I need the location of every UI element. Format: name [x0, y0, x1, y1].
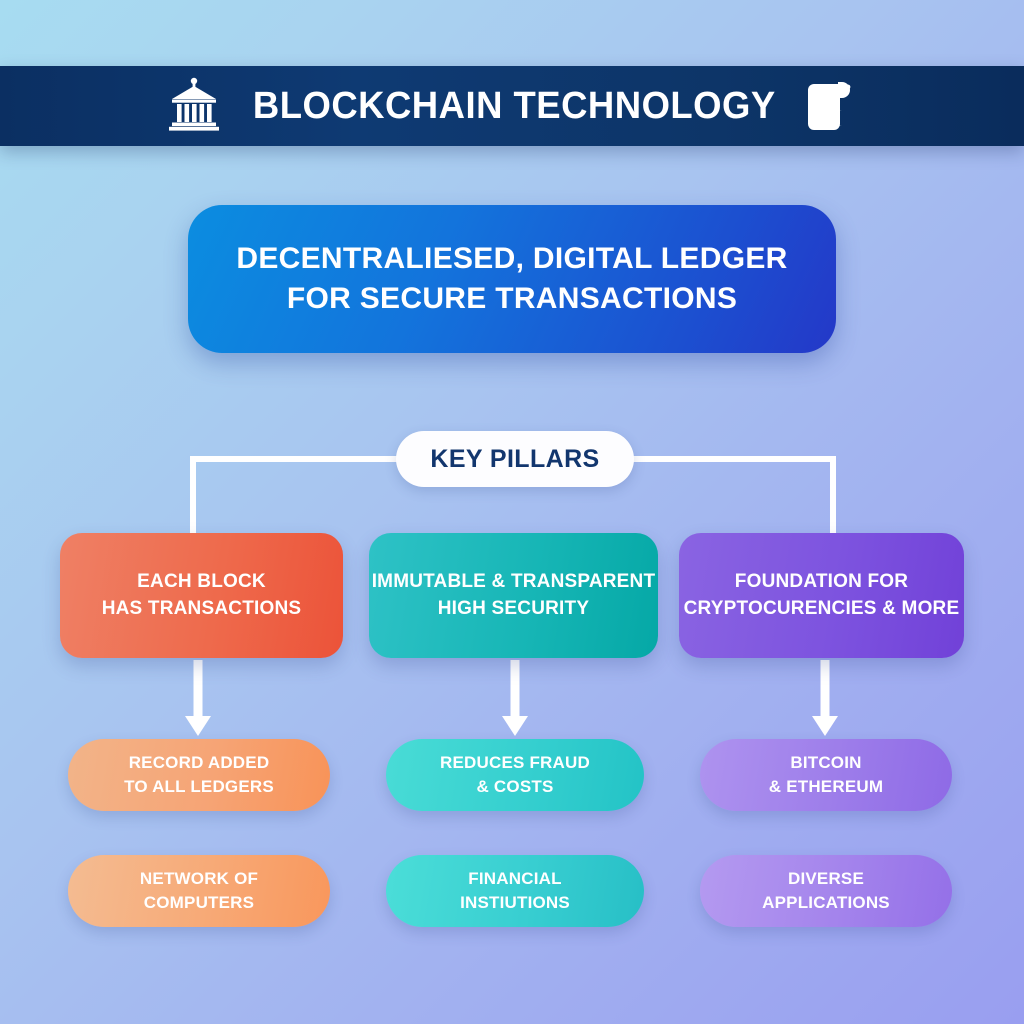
sub-line-2: TO ALL LEDGERS: [124, 775, 274, 799]
bracket-horizontal-right: [614, 456, 836, 462]
pillar-line-1: EACH BLOCK: [137, 569, 266, 596]
sub-line-2: & COSTS: [477, 775, 554, 799]
bracket-vertical-left: [190, 456, 196, 534]
sub-line-1: RECORD ADDED: [129, 751, 270, 775]
sub-line-2: INSTIUTIONS: [460, 891, 570, 915]
sub-line-1: FINANCIAL: [468, 867, 561, 891]
hero-banner: DECENTRALIESED, DIGITAL LEDGER FOR SECUR…: [188, 205, 836, 353]
pillar-line-2: HIGH SECURITY: [438, 596, 589, 623]
sub-pill-reduces-fraud[interactable]: REDUCES FRAUD & COSTS: [386, 739, 644, 811]
pillar-card-each-block[interactable]: EACH BLOCK HAS TRANSACTIONS: [60, 533, 343, 658]
sub-pill-network-of-computers[interactable]: NETWORK OF COMPUTERS: [68, 855, 330, 927]
sub-line-1: BITCOIN: [790, 751, 861, 775]
bracket-horizontal-left: [190, 456, 412, 462]
sub-line-2: & ETHEREUM: [769, 775, 883, 799]
pillar-card-immutable-transparent[interactable]: IMMUTABLE & TRANSPARENT HIGH SECURITY: [369, 533, 658, 658]
sub-line-2: APPLICATIONS: [762, 891, 890, 915]
down-arrow-icon-left: [178, 660, 218, 736]
pillar-line-1: IMMUTABLE & TRANSPARENT: [372, 569, 656, 596]
sub-line-1: REDUCES FRAUD: [440, 751, 590, 775]
down-arrow-icon-middle: [495, 660, 535, 736]
scroll-document-icon: [808, 78, 856, 135]
pillar-line-2: HAS TRANSACTIONS: [102, 596, 302, 623]
down-arrow-icon-right: [805, 660, 845, 736]
pillar-line-2: CRYPTOCURENCIES & MORE: [684, 596, 960, 623]
bracket-vertical-right: [830, 456, 836, 534]
sub-pill-bitcoin-ethereum[interactable]: BITCOIN & ETHEREUM: [700, 739, 952, 811]
sub-line-2: COMPUTERS: [144, 891, 254, 915]
hero-line-2: FOR SECURE TRANSACTIONS: [287, 279, 737, 319]
pillar-card-foundation-crypto[interactable]: FOUNDATION FOR CRYPTOCURENCIES & MORE: [679, 533, 964, 658]
pillar-line-1: FOUNDATION FOR: [735, 569, 908, 596]
key-pillars-badge: KEY PILLARS: [396, 431, 634, 487]
sub-pill-diverse-applications[interactable]: DIVERSE APPLICATIONS: [700, 855, 952, 927]
hero-line-1: DECENTRALIESED, DIGITAL LEDGER: [236, 239, 787, 279]
sub-pill-financial-institutions[interactable]: FINANCIAL INSTIUTIONS: [386, 855, 644, 927]
infographic-canvas: BLOCKCHAIN TECHNOLOGY DECENTRALIESED, DI…: [0, 0, 1024, 1024]
sub-line-1: DIVERSE: [788, 867, 864, 891]
sub-line-1: NETWORK OF: [140, 867, 258, 891]
header-title: BLOCKCHAIN TECHNOLOGY: [253, 85, 776, 128]
key-pillars-label: KEY PILLARS: [430, 445, 599, 474]
bank-building-icon: [168, 76, 220, 137]
sub-pill-record-added[interactable]: RECORD ADDED TO ALL LEDGERS: [68, 739, 330, 811]
header-bar: BLOCKCHAIN TECHNOLOGY: [0, 66, 1024, 146]
